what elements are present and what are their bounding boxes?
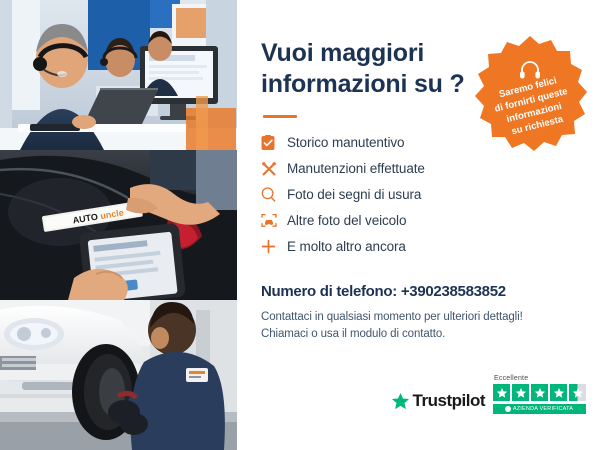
list-item: Manutenzioni effettuate: [261, 156, 578, 182]
phone-number[interactable]: Numero di telefono: +390238583852: [261, 283, 578, 300]
star-filled: [531, 384, 548, 401]
car-scan-icon: [261, 213, 287, 228]
list-item-label: E molto altro ancora: [287, 239, 406, 254]
headline-line-1: Vuoi maggiori: [261, 38, 476, 69]
photo-collage: AUTO uncle: [0, 0, 237, 450]
trustpilot-brand: Trustpilot: [413, 391, 485, 411]
mechanic-wheel-photo: [0, 300, 237, 450]
trustpilot-widget[interactable]: Trustpilot Eccellente: [391, 375, 586, 414]
star-filled: [512, 384, 529, 401]
page-title: Vuoi maggiori informazioni su ?: [261, 38, 476, 101]
info-panel: Vuoi maggiori informazioni su ? Storico …: [237, 0, 600, 450]
contact-description-line-2: Chiamaci o usa il modulo di contatto.: [261, 326, 578, 344]
star-half: [569, 384, 586, 401]
list-item: E molto altro ancora: [261, 234, 578, 260]
car-inspection-photo: AUTO uncle: [0, 150, 237, 300]
headset-icon: [468, 60, 592, 80]
list-item-label: Altre foto del veicolo: [287, 213, 406, 228]
check-circle-icon: [505, 406, 511, 412]
rating-label: Eccellente: [493, 375, 528, 382]
contact-description: Contattaci in qualsiasi momento per ulte…: [261, 309, 578, 345]
trustpilot-star-icon: [391, 392, 410, 411]
plus-icon: [261, 239, 287, 254]
list-item: Foto dei segni di usura: [261, 182, 578, 208]
call-center-agents-photo: [0, 0, 237, 150]
star-filled: [550, 384, 567, 401]
callout-badge: Saremo felici di fornirti queste informa…: [468, 34, 592, 158]
star-filled: [493, 384, 510, 401]
trustpilot-logo: Trustpilot: [391, 391, 485, 414]
starburst-shape: [468, 34, 592, 158]
trustpilot-rating: Eccellente: [493, 375, 586, 414]
headline-line-2: informazioni su ?: [261, 69, 476, 100]
star-rating: [493, 384, 586, 401]
list-item-label: Manutenzioni effettuate: [287, 161, 425, 176]
list-item-label: Foto dei segni di usura: [287, 187, 421, 202]
list-item: Altre foto del veicolo: [261, 208, 578, 234]
clipboard-check-icon: [261, 135, 287, 151]
verified-badge: AZIENDA VERIFICATA: [493, 404, 586, 414]
verified-label: AZIENDA VERIFICATA: [513, 406, 573, 412]
title-divider: [263, 115, 297, 118]
contact-description-line-1: Contattaci in qualsiasi momento per ulte…: [261, 309, 578, 327]
tools-cross-icon: [261, 161, 287, 177]
list-item-label: Storico manutentivo: [287, 135, 404, 150]
magnifier-icon: [261, 187, 287, 202]
service-info-banner: AUTO uncle: [0, 0, 600, 450]
